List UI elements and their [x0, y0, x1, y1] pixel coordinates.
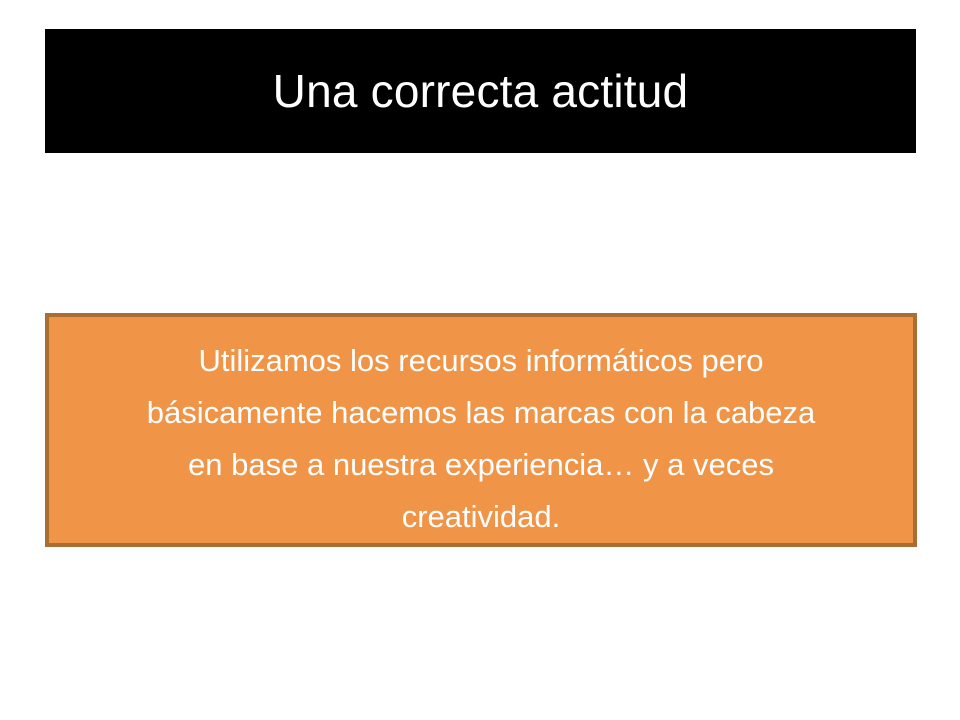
slide-canvas: Una correcta actitud Utilizamos los recu… — [0, 0, 960, 720]
title-banner: Una correcta actitud — [45, 29, 916, 153]
content-callout-box: Utilizamos los recursos informáticos per… — [45, 313, 917, 547]
content-line-3: en base a nuestra experiencia… y a veces — [49, 439, 913, 491]
content-line-4: creatividad. — [49, 491, 913, 543]
content-line-2: básicamente hacemos las marcas con la ca… — [49, 387, 913, 439]
page-title: Una correcta actitud — [273, 67, 689, 115]
content-line-1: Utilizamos los recursos informáticos per… — [49, 335, 913, 387]
